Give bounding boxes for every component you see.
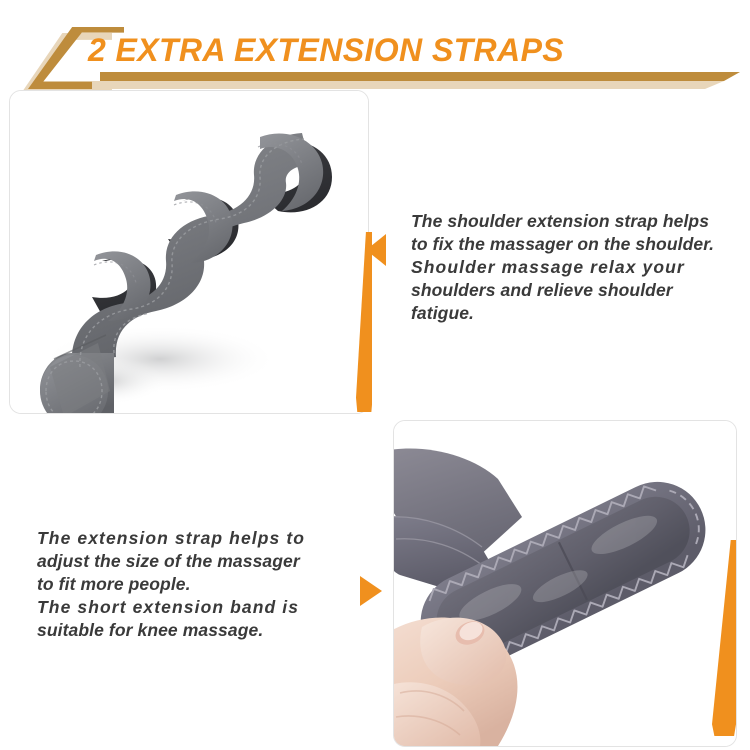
callout-line: to fit more people. — [37, 573, 357, 596]
callout-line: fatigue. — [411, 302, 729, 325]
product-image-panel-coiled-strap — [9, 90, 369, 414]
callout-line: to fix the massager on the shoulder. — [411, 233, 729, 256]
header-banner: 2 EXTRA EXTENSION STRAPS — [0, 0, 750, 96]
product-image-panel-hand-holding-band — [393, 420, 737, 747]
poster-canvas: 2 EXTRA EXTENSION STRAPS — [0, 0, 750, 750]
coiled-strap-photo — [10, 91, 368, 413]
header-bar-gold — [100, 72, 740, 81]
arrow-right-icon — [360, 576, 382, 606]
callout-text-extension: The extension strap helps to adjust the … — [37, 527, 357, 642]
hand-holding-band-photo — [394, 421, 736, 746]
callout-line: The extension strap helps to — [37, 527, 357, 550]
callout-line: suitable for knee massage. — [37, 619, 357, 642]
callout-line: adjust the size of the massager — [37, 550, 357, 573]
header-bar-tan — [92, 81, 724, 89]
callout-line: The shoulder extension strap helps — [411, 210, 729, 233]
callout-line: shoulders and relieve shoulder — [411, 279, 729, 302]
callout-line: Shoulder massage relax your — [411, 256, 729, 279]
arrow-left-icon — [366, 234, 386, 266]
callout-line: The short extension band is — [37, 596, 357, 619]
page-title: 2 EXTRA EXTENSION STRAPS — [88, 30, 564, 70]
callout-text-shoulder: The shoulder extension strap helps to fi… — [411, 210, 729, 325]
